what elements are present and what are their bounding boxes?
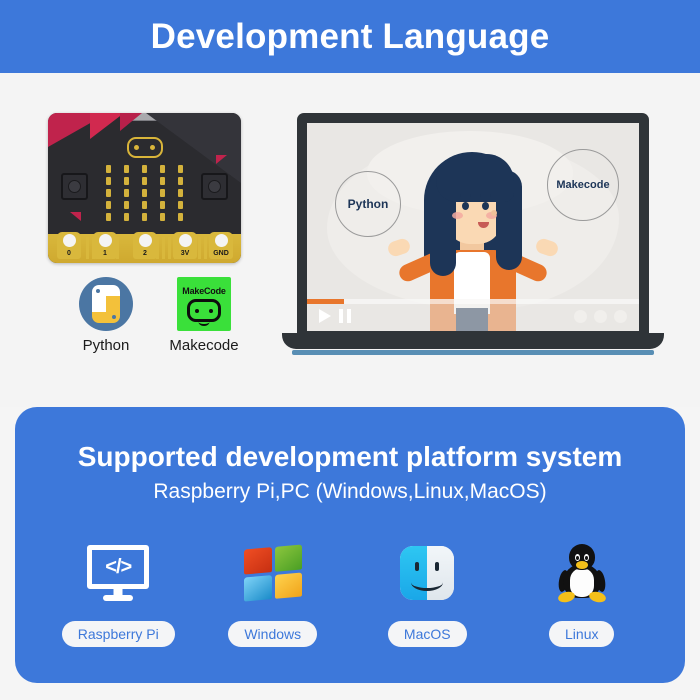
code-glyph: </> <box>105 556 131 579</box>
microbit-logo-icon <box>127 137 163 158</box>
monitor-code-icon: </> <box>87 545 149 601</box>
python-icon <box>79 277 133 331</box>
windows-icon-wrap <box>244 537 302 609</box>
platform-panel: Supported development platform system Ra… <box>15 407 685 683</box>
platform-panel-title: Supported development platform system <box>15 443 685 471</box>
laptop-base <box>282 333 664 349</box>
page-title: Development Language <box>151 19 550 54</box>
platform-item-raspberry-pi[interactable]: </> Raspberry Pi <box>48 537 188 647</box>
board-flag-decoration <box>216 155 227 164</box>
python-logo-item: Python <box>58 277 154 353</box>
laptop-shadow <box>292 350 654 355</box>
video-page-dots[interactable] <box>574 310 627 323</box>
raspberry-pi-icon-wrap: </> <box>87 537 149 609</box>
video-controls-bar <box>307 299 639 331</box>
tux-penguin-icon <box>557 544 607 602</box>
python-bubble-label: Python <box>348 197 389 211</box>
makecode-bubble: Makecode <box>547 149 619 221</box>
linux-label: Linux <box>549 621 614 647</box>
button-a[interactable] <box>61 173 88 200</box>
platform-items-row: </> Raspberry Pi Windows <box>15 537 685 647</box>
board-flag-decoration <box>70 212 81 221</box>
pause-icon[interactable] <box>339 309 351 323</box>
platform-panel-subtitle: Raspberry Pi,PC (Windows,Linux,MacOS) <box>15 481 685 502</box>
makecode-logo-caption: Makecode <box>156 338 252 353</box>
header-banner: Development Language <box>0 0 700 73</box>
macos-label: MacOS <box>388 621 467 647</box>
pin-1: 1 <box>93 232 117 259</box>
windows-label: Windows <box>228 621 317 647</box>
pin-2: 2 <box>133 232 157 259</box>
pin-strip: 0 1 2 3V GND <box>48 229 241 263</box>
makecode-logo-item: MakeCode Makecode <box>156 277 252 353</box>
board-triangle-decoration <box>90 113 124 139</box>
pin-3v: 3V <box>173 232 197 259</box>
laptop-lid: Python Makecode <box>297 113 649 341</box>
windows-flag-icon <box>244 544 302 601</box>
led-matrix <box>106 165 184 218</box>
progress-track[interactable] <box>307 299 639 304</box>
video-player[interactable]: Python Makecode <box>307 123 639 331</box>
button-b[interactable] <box>201 173 228 200</box>
progress-fill <box>307 299 344 304</box>
platform-item-macos[interactable]: MacOS <box>357 537 497 647</box>
laptop-illustration: Python Makecode <box>282 113 664 361</box>
pin-0: 0 <box>57 232 81 259</box>
makecode-bubble-label: Makecode <box>556 179 609 191</box>
board-triangle-decoration <box>120 113 142 131</box>
finder-face-icon <box>400 546 454 600</box>
play-icon[interactable] <box>319 309 331 323</box>
microbit-board: 0 1 2 3V GND <box>48 113 241 263</box>
linux-icon-wrap <box>557 537 607 609</box>
makecode-badge-text: MakeCode <box>182 286 225 296</box>
pin-gnd: GND <box>209 232 233 259</box>
python-bubble: Python <box>335 171 401 237</box>
macos-icon-wrap <box>400 537 454 609</box>
raspberry-pi-label: Raspberry Pi <box>62 621 175 647</box>
makecode-icon: MakeCode <box>177 277 231 331</box>
platform-item-linux[interactable]: Linux <box>512 537 652 647</box>
python-logo-caption: Python <box>58 338 154 353</box>
platform-item-windows[interactable]: Windows <box>203 537 343 647</box>
